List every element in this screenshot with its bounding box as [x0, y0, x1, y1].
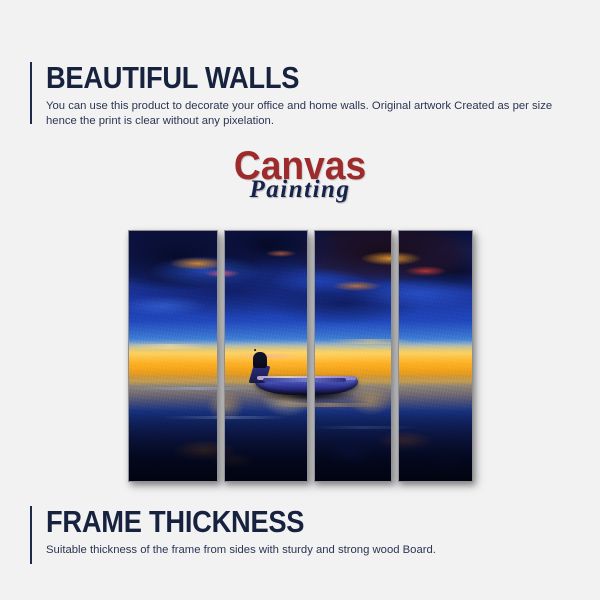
artwork-panel-4[interactable]: [398, 230, 473, 482]
accent-bar-bottom: [30, 506, 32, 564]
feature-heading-frame-thickness: FRAME THICKNESS: [46, 506, 389, 538]
artwork-multi-panel[interactable]: [128, 230, 473, 482]
feature-description-frame-thickness: Suitable thickness of the frame from sid…: [46, 543, 436, 558]
feature-description-beautiful-walls: You can use this product to decorate you…: [46, 99, 556, 130]
product-banner: BEAUTIFUL WALLS You can use this product…: [0, 0, 600, 600]
brand-logo: Canvas Painting: [0, 146, 600, 216]
feature-heading-beautiful-walls: BEAUTIFUL WALLS: [46, 62, 495, 94]
feature-beautiful-walls: BEAUTIFUL WALLS You can use this product…: [30, 62, 556, 124]
feature-frame-thickness: FRAME THICKNESS Suitable thickness of th…: [30, 506, 436, 564]
logo-secondary-text: Painting: [0, 177, 600, 203]
artwork-panel-3[interactable]: [314, 230, 392, 482]
artwork-panel-1[interactable]: [128, 230, 218, 482]
artwork-panel-2[interactable]: [224, 230, 308, 482]
accent-bar-top: [30, 62, 32, 124]
